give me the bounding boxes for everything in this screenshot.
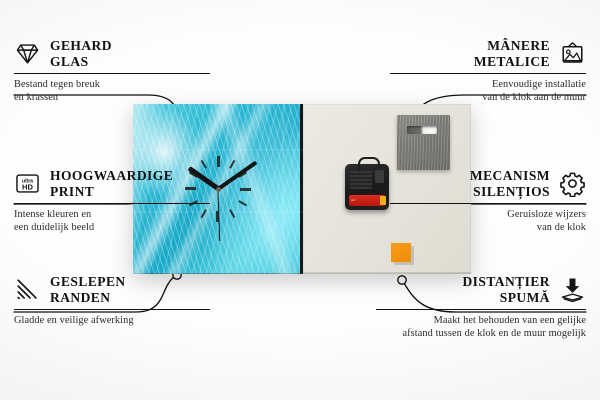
feature-header: MECANISM SILENȚIOS: [371, 168, 586, 199]
bevelled-edges-icon: [14, 276, 41, 303]
feature-divider: [390, 203, 586, 204]
feature-description: Gladde en veilige afwerking: [14, 315, 229, 328]
feature-description: Eenvoudige installatie van de klok aan d…: [371, 79, 586, 104]
gear-icon: [559, 170, 586, 197]
feature-header: MÂNERE METALICE: [371, 38, 586, 69]
feature-description: Geruisloze wijzers van de klok: [371, 209, 586, 234]
picture-frame-hook-icon: [559, 40, 586, 67]
feature-manere-metalice: MÂNERE METALICE Eenvoudige installatie v…: [371, 38, 586, 105]
ultra-hd-icon: ultra HD: [14, 170, 41, 197]
metal-hanger-plate: [397, 115, 450, 170]
foam-spacer: [391, 243, 411, 262]
feature-title: MECANISM SILENȚIOS: [470, 168, 550, 199]
feature-title: DISTANȚIER SPUMĂ: [462, 274, 550, 305]
feature-mecanism-silentios: MECANISM SILENȚIOS Geruisloze wijzers va…: [371, 168, 586, 235]
feature-gehard-glas: GEHARD GLAS Bestand tegen breuk en krass…: [14, 38, 229, 105]
battery-label: AA: [351, 198, 355, 202]
feature-divider: [390, 73, 586, 74]
feature-description: Maakt het behouden van een gelijke afsta…: [361, 315, 586, 340]
svg-text:HD: HD: [22, 183, 33, 192]
feature-distantier-spuma: DISTANȚIER SPUMĂ Maakt het behouden van …: [361, 274, 586, 341]
feature-title: MÂNERE METALICE: [474, 38, 550, 69]
feature-header: GEHARD GLAS: [14, 38, 229, 69]
feature-title: GESLEPEN RANDEN: [50, 274, 126, 305]
feature-divider: [376, 309, 586, 310]
feature-geslepen-randen: GESLEPEN RANDEN Gladde en veilige afwerk…: [14, 274, 229, 328]
feature-divider: [14, 203, 210, 204]
down-arrow-layers-icon: [559, 276, 586, 303]
hanger-keyhole-slot: [407, 126, 437, 134]
feature-header: ultra HD HOOGWAARDIGE PRINT: [14, 168, 229, 199]
mechanism-dial: [350, 171, 372, 189]
feature-header: DISTANȚIER SPUMĂ: [361, 274, 586, 305]
feature-divider: [14, 309, 210, 310]
feature-description: Bestand tegen breuk en krassen: [14, 79, 229, 104]
feature-hoogwaardige-print: ultra HD HOOGWAARDIGE PRINT Intense kleu…: [14, 168, 229, 235]
feature-title: GEHARD GLAS: [50, 38, 112, 69]
feature-description: Intense kleuren en een duidelijk beeld: [14, 209, 229, 234]
feature-divider: [14, 73, 210, 74]
diamond-icon: [14, 40, 41, 67]
feature-header: GESLEPEN RANDEN: [14, 274, 229, 305]
infographic-canvas: AA GEHARD GLAS Bestand tegen breuk en kr…: [0, 0, 600, 400]
feature-title: HOOGWAARDIGE PRINT: [50, 168, 173, 199]
